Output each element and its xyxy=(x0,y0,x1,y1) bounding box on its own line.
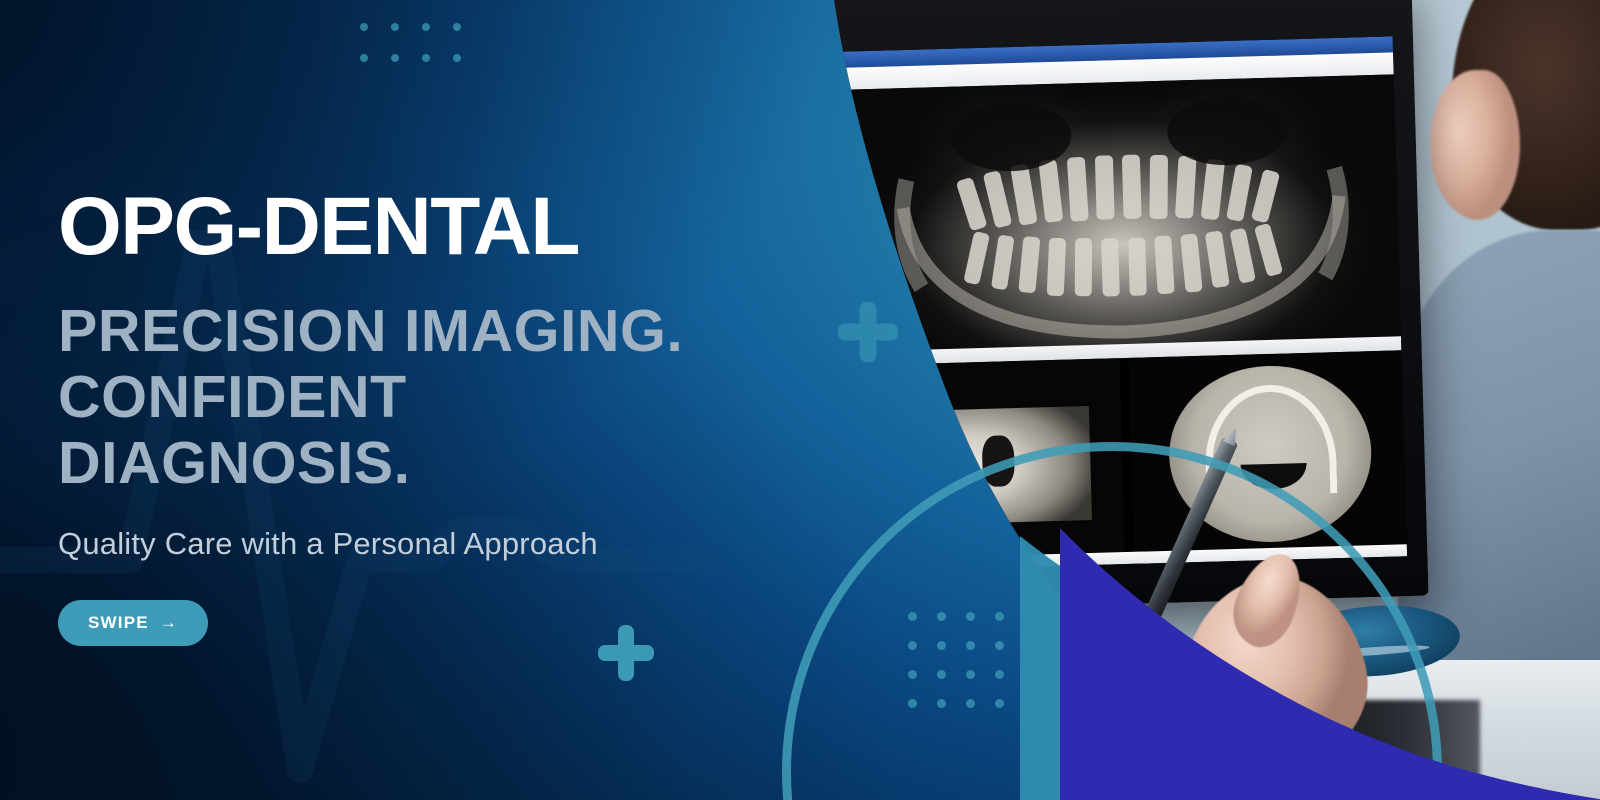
photo-person-face xyxy=(1430,70,1520,220)
page-title: OPG-DENTAL xyxy=(58,186,579,268)
photo-ct-axial xyxy=(1128,350,1407,554)
promo-banner: OPG-DENTAL PRECISION IMAGING. CONFIDENT … xyxy=(0,0,1600,800)
headline: PRECISION IMAGING. CONFIDENT DIAGNOSIS. xyxy=(58,298,683,496)
photo-panoramic-xray xyxy=(842,74,1401,351)
subtitle: Quality Care with a Personal Approach xyxy=(58,526,598,562)
swipe-button-label: SWIPE xyxy=(88,613,149,633)
swipe-button[interactable]: SWIPE → xyxy=(58,600,208,646)
arrow-right-icon: → xyxy=(160,614,178,631)
banner-content: OPG-DENTAL PRECISION IMAGING. CONFIDENT … xyxy=(58,0,918,800)
